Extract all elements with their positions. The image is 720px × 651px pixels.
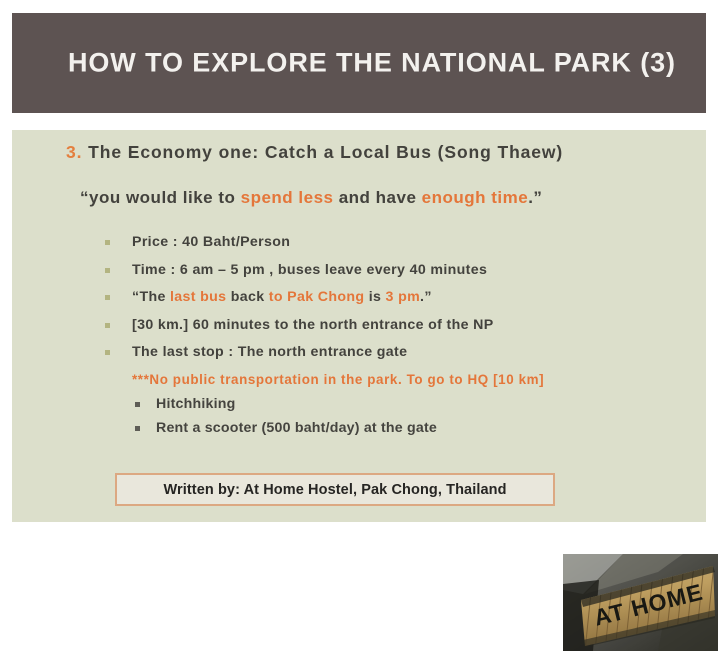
pull-quote-highlight-1: spend less	[241, 188, 334, 207]
bullet-item: Price : 40 Baht/Person	[102, 234, 682, 251]
sub-bullet-label: Hitchhiking	[156, 396, 235, 412]
bullet-text-segment: to Pak Chong	[269, 289, 365, 305]
attribution-box: Written by: At Home Hostel, Pak Chong, T…	[115, 473, 555, 506]
page-title: How to Explore the National Park (3)	[68, 48, 676, 79]
bullet-text-segment: The last stop : The north entrance gate	[132, 344, 407, 360]
sub-bullet-item: Rent a scooter (500 baht/day) at the gat…	[132, 420, 682, 437]
bullet-item: “The last bus back to Pak Chong is 3 pm.…	[102, 289, 682, 306]
photo-artwork: AT HOME	[563, 554, 718, 651]
bullet-item: Time : 6 am – 5 pm , buses leave every 4…	[102, 262, 682, 279]
bullet-text-segment: back	[226, 289, 268, 305]
section-heading: 3. The Economy one: Catch a Local Bus (S…	[66, 142, 563, 163]
sub-bullet-list: HitchhikingRent a scooter (500 baht/day)…	[132, 396, 682, 437]
at-home-hostel-bamboo-sign-photo: AT HOME	[563, 554, 718, 651]
attribution-text: Written by: At Home Hostel, Pak Chong, T…	[163, 482, 506, 498]
pull-quote-part-1: “you would like to	[80, 188, 241, 207]
bullet-text-segment: is	[364, 289, 385, 305]
pull-quote-part-2: and have	[334, 188, 422, 207]
sub-bullet-item: Hitchhiking	[132, 396, 682, 413]
bullet-item: The last stop : The north entrance gate	[102, 344, 682, 361]
slide-root: How to Explore the National Park (3) 3. …	[0, 0, 720, 540]
warning-note: ***No public transportation in the park.…	[132, 372, 682, 387]
section-heading-text: The Economy one: Catch a Local Bus (Song…	[88, 142, 563, 162]
bullet-square-icon	[105, 240, 110, 245]
bullet-text-segment: .”	[420, 289, 432, 305]
pull-quote-part-3: .”	[528, 188, 542, 207]
bullet-list: Price : 40 Baht/PersonTime : 6 am – 5 pm…	[102, 234, 682, 444]
bullet-text-segment: 3 pm	[386, 289, 421, 305]
bullet-text-segment: Price : 40 Baht/Person	[132, 234, 290, 250]
bullet-list-host: Price : 40 Baht/PersonTime : 6 am – 5 pm…	[102, 234, 682, 361]
pull-quote: “you would like to spend less and have e…	[80, 188, 542, 208]
bullet-square-icon	[105, 295, 110, 300]
pull-quote-highlight-2: enough time	[422, 188, 529, 207]
bullet-square-icon	[105, 268, 110, 273]
bullet-text-segment: Time : 6 am – 5 pm , buses leave every 4…	[132, 262, 487, 278]
section-heading-number: 3.	[66, 142, 82, 162]
bullet-text-segment: last bus	[170, 289, 226, 305]
bullet-square-icon	[105, 350, 110, 355]
bullet-text-segment: “The	[132, 289, 170, 305]
sub-bullet-square-icon	[135, 402, 140, 407]
sub-bullet-square-icon	[135, 426, 140, 431]
slide-content-panel: 3. The Economy one: Catch a Local Bus (S…	[12, 130, 706, 522]
bullet-text-segment: [30 km.] 60 minutes to the north entranc…	[132, 317, 494, 333]
bullet-item: [30 km.] 60 minutes to the north entranc…	[102, 317, 682, 334]
bullet-square-icon	[105, 323, 110, 328]
slide-title-bar: How to Explore the National Park (3)	[12, 13, 706, 113]
sub-bullet-list-host: HitchhikingRent a scooter (500 baht/day)…	[132, 396, 682, 437]
sub-bullet-label: Rent a scooter (500 baht/day) at the gat…	[156, 420, 437, 436]
